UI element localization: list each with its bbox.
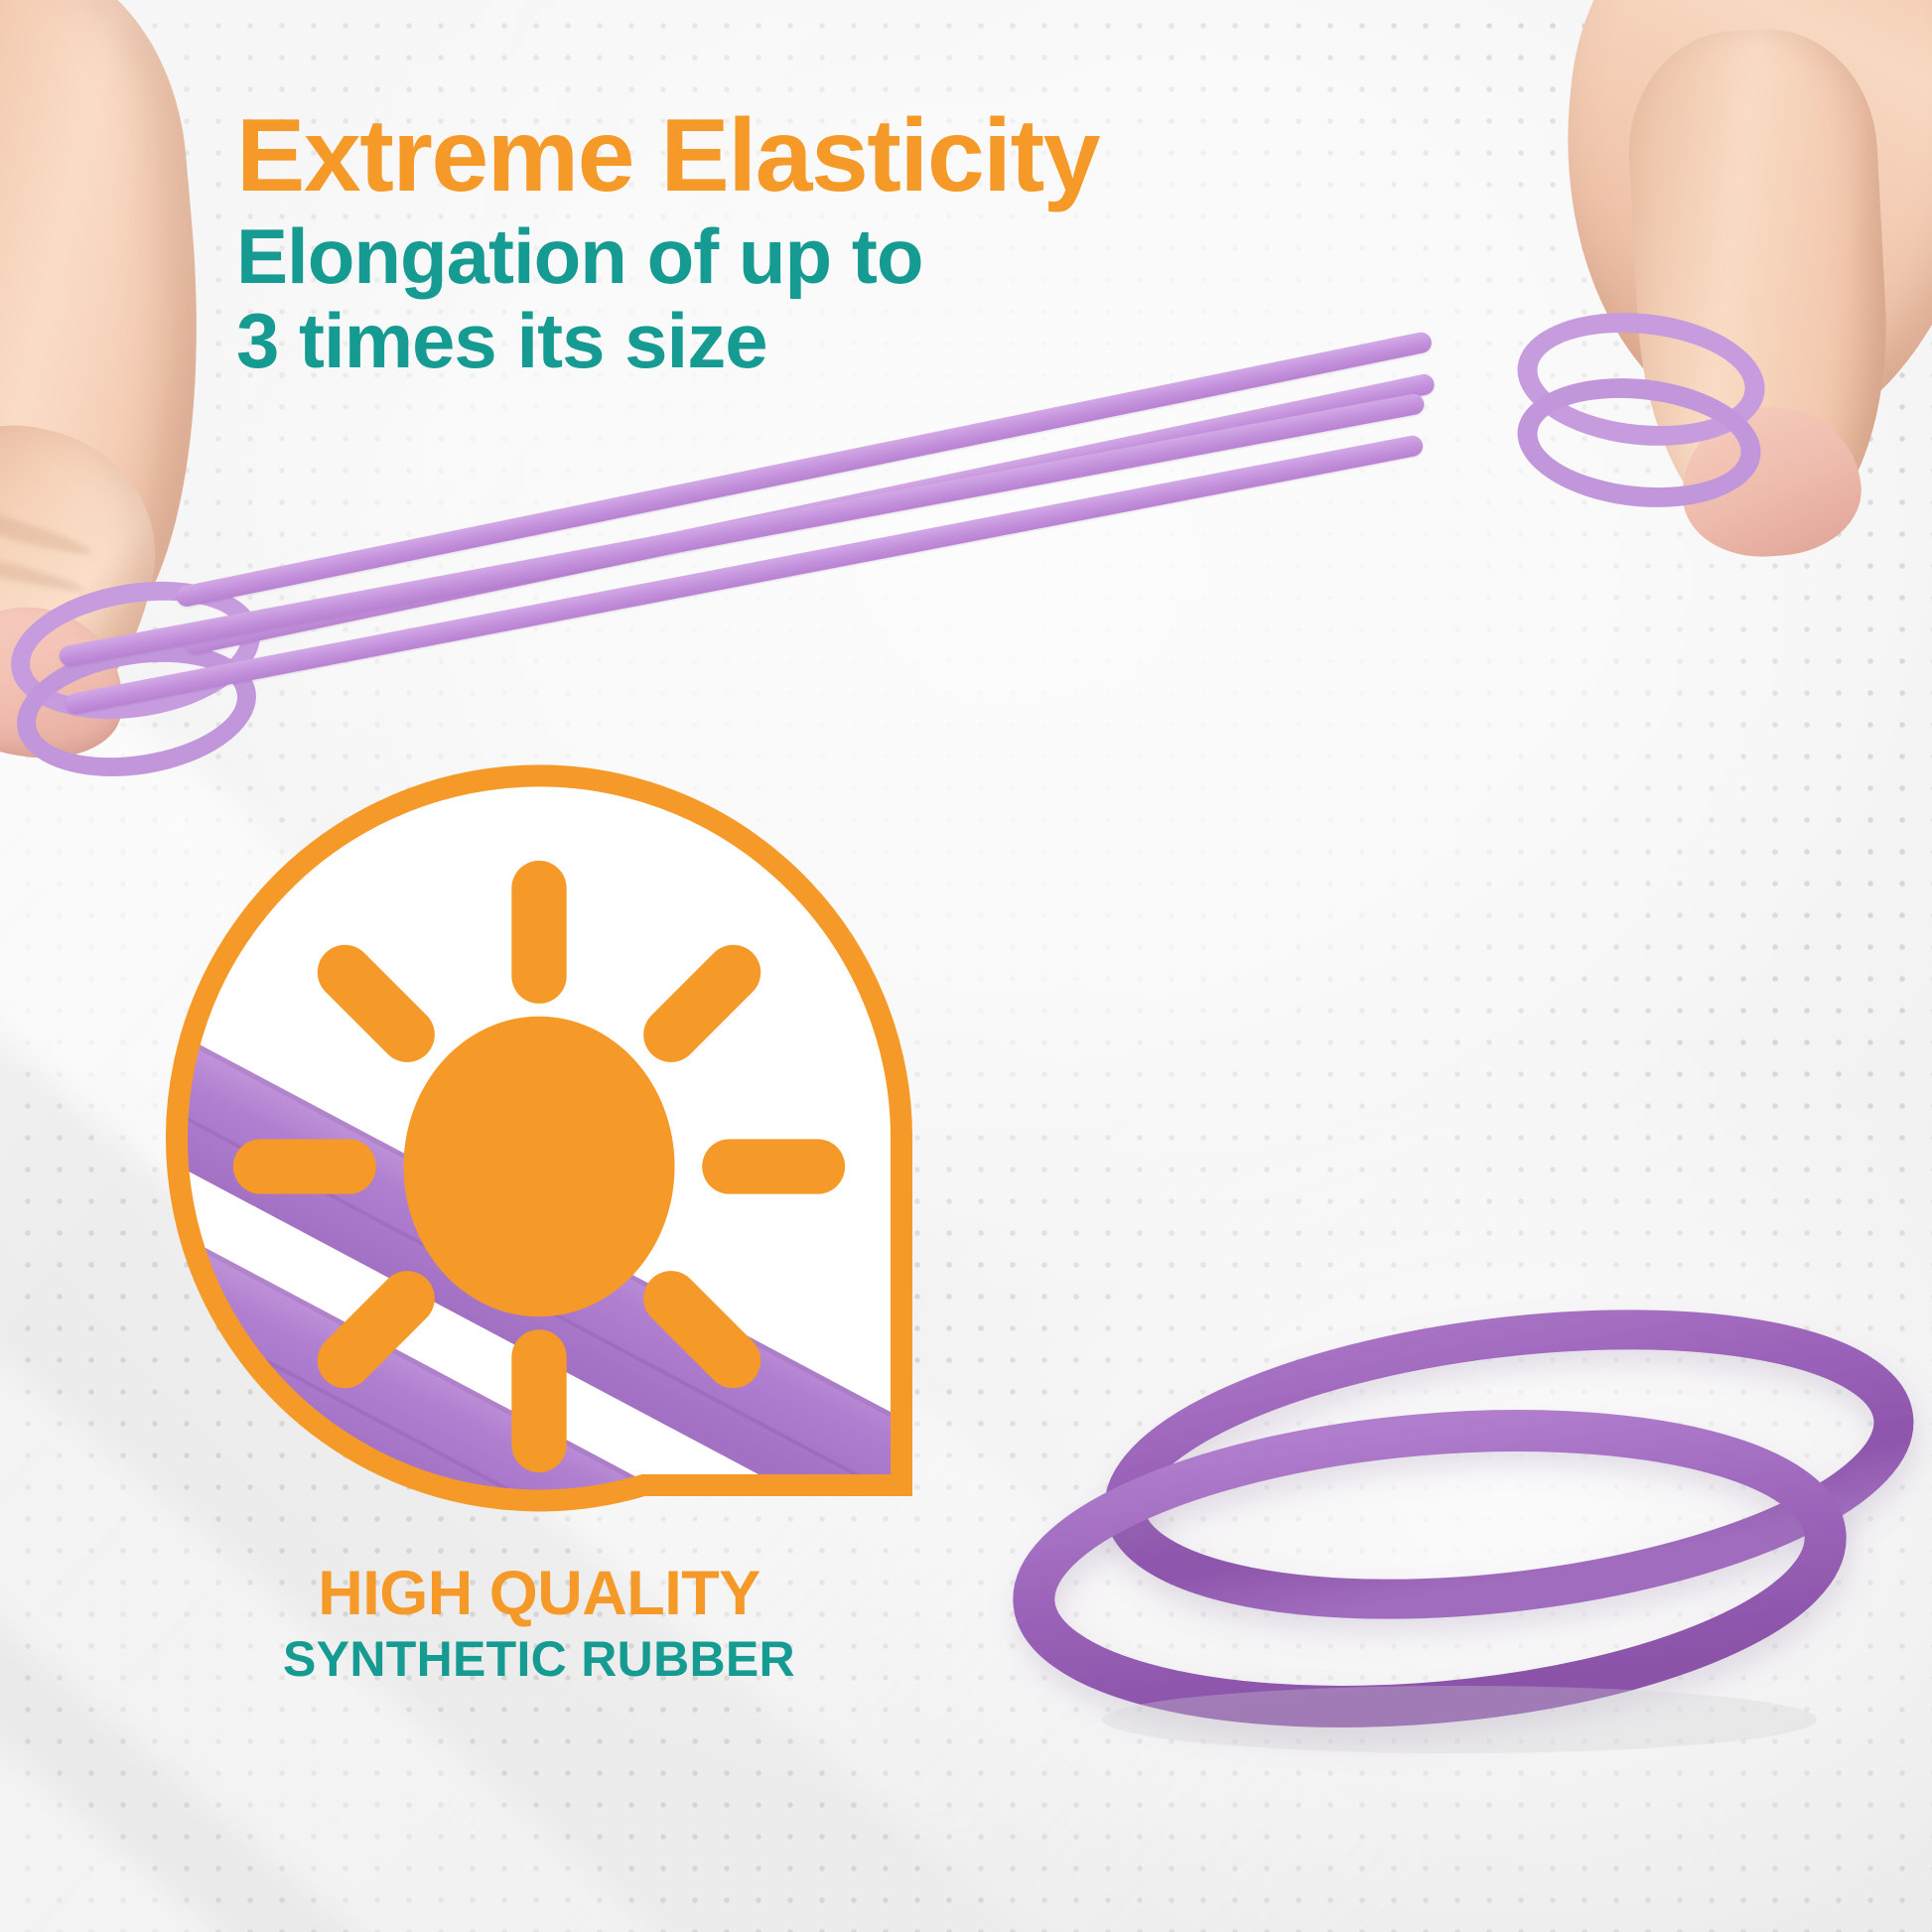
headline-block: Extreme Elasticity Elongation of up to 3… <box>236 103 1249 383</box>
headline-subtitle: Elongation of up to 3 times its size <box>236 214 1249 383</box>
headline-title: Extreme Elasticity <box>236 103 1249 208</box>
headline-subtitle-line-1: Elongation of up to <box>236 214 1249 299</box>
band-contact-shadow <box>1102 1686 1817 1753</box>
headline-subtitle-line-2: 3 times its size <box>236 299 1249 383</box>
loose-rubber-bands-photo <box>874 1271 1932 1827</box>
high-quality-badge: HIGH QUALITY SYNTHETIC RUBBER <box>147 749 931 1533</box>
right-hand <box>1436 0 1932 616</box>
product-infographic: Extreme Elasticity Elongation of up to 3… <box>0 0 1932 1932</box>
